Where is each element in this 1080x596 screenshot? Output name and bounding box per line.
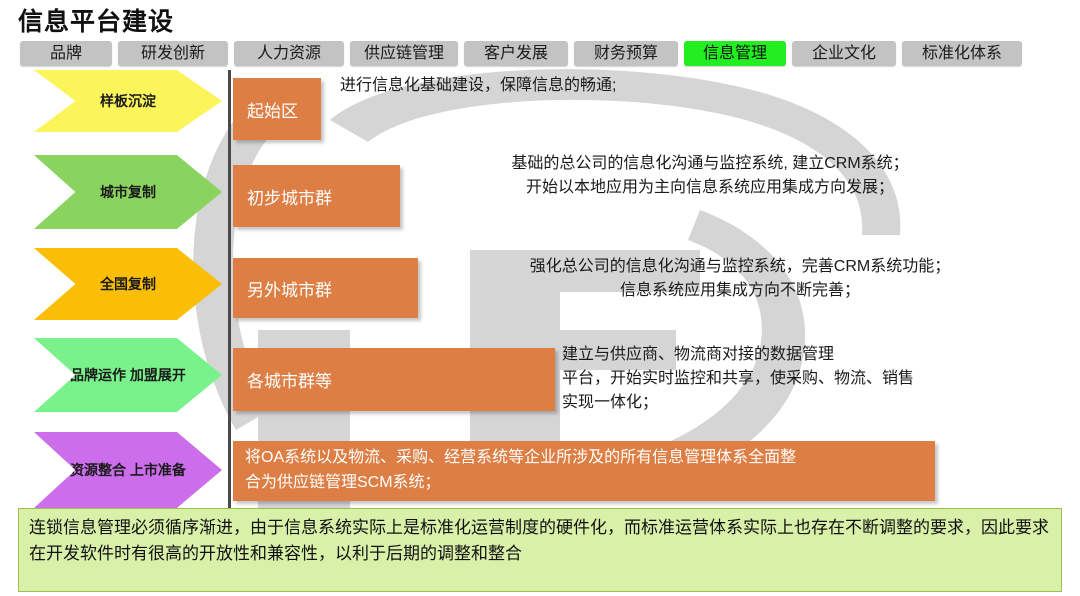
slide-canvas: 信息平台建设 品牌 研发创新 人力资源 供应链管理 客户发展 财务预算 信息管理… [0, 0, 1080, 596]
summary-box: 连锁信息管理必须循序渐进，由于信息系统实际上是标准化运营制度的硬件化，而标准运营… [18, 508, 1062, 592]
phase-chevron-label: 城市复制 [100, 182, 156, 203]
stage-box-label: 起始区 [233, 97, 298, 122]
page-title: 信息平台建设 [18, 2, 174, 38]
stage-box-initial-city-cluster[interactable]: 初步城市群 [233, 165, 400, 227]
phase-chevron-label: 资源整合 上市准备 [70, 460, 186, 481]
tab-corporate-culture[interactable]: 企业文化 [792, 41, 896, 66]
stage-box-oa-scm-integration[interactable]: 将OA系统以及物流、采购、经营系统等企业所涉及的所有信息管理体系全面整 合为供应… [233, 441, 935, 501]
description-various-city-clusters: 建立与供应商、物流商对接的数据管理 平台，开始实时监控和共享，使采购、物流、销售… [562, 343, 1032, 415]
phase-chevron-label: 全国复制 [100, 274, 156, 295]
stage-box-various-city-clusters[interactable]: 各城市群等 [233, 348, 555, 411]
tab-brand[interactable]: 品牌 [20, 41, 112, 66]
stage-box-start-zone[interactable]: 起始区 [233, 78, 321, 140]
tab-supply-chain[interactable]: 供应链管理 [350, 41, 458, 66]
stage-box-label: 另外城市群 [233, 276, 332, 301]
timeline-spine [228, 70, 231, 508]
tab-customer-growth[interactable]: 客户发展 [464, 41, 568, 66]
tab-rnd-innovation[interactable]: 研发创新 [118, 41, 228, 66]
summary-text: 连锁信息管理必须循序渐进，由于信息系统实际上是标准化运营制度的硬件化，而标准运营… [19, 509, 1061, 568]
phase-chevron-label: 样板沉淀 [100, 91, 156, 112]
stage-box-label: 将OA系统以及物流、采购、经营系统等企业所涉及的所有信息管理体系全面整 合为供应… [233, 446, 808, 496]
phase-chevron-label: 品牌运作 加盟展开 [70, 365, 186, 386]
description-initial-city-cluster: 基础的总公司的信息化沟通与监控系统, 建立CRM系统； 开始以本地应用为主向信息… [420, 152, 1000, 200]
tab-information-management[interactable]: 信息管理 [684, 41, 786, 66]
description-other-city-cluster: 强化总公司的信息化沟通与监控系统，完善CRM系统功能； 信息系统应用集成方向不断… [460, 255, 1020, 303]
phase-chevron-resource-integration-ipo[interactable]: 资源整合 上市准备 [34, 432, 222, 508]
phase-chevron-brand-operation-franchise[interactable]: 品牌运作 加盟展开 [34, 338, 222, 412]
tab-human-resources[interactable]: 人力资源 [234, 41, 344, 66]
description-start-zone: 进行信息化基础建设，保障信息的畅通; [340, 74, 940, 98]
stage-box-other-city-cluster[interactable]: 另外城市群 [233, 258, 418, 318]
stage-box-label: 初步城市群 [233, 184, 332, 209]
phase-chevron-nationwide-replication[interactable]: 全国复制 [34, 248, 222, 320]
category-tab-bar: 品牌 研发创新 人力资源 供应链管理 客户发展 财务预算 信息管理 企业文化 标… [20, 41, 1022, 66]
phase-chevron-sample-precipitation[interactable]: 样板沉淀 [34, 70, 222, 132]
tab-finance-budget[interactable]: 财务预算 [574, 41, 678, 66]
phase-chevron-city-replication[interactable]: 城市复制 [34, 155, 222, 229]
tab-standardization-system[interactable]: 标准化体系 [902, 41, 1022, 66]
stage-box-label: 各城市群等 [233, 367, 332, 392]
